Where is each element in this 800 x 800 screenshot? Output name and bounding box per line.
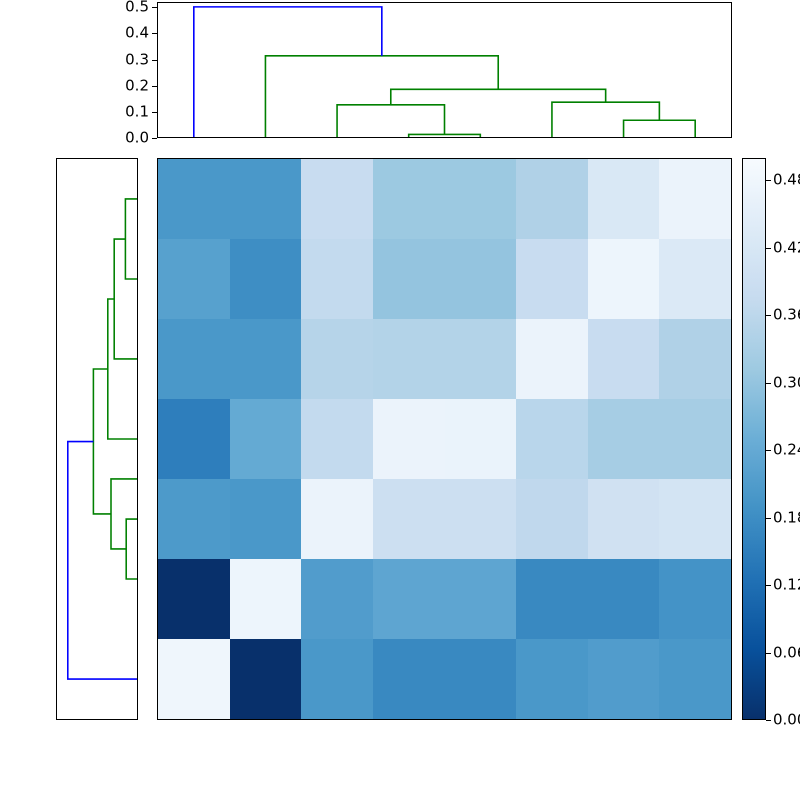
heatmap-cell <box>445 559 517 639</box>
heatmap-cell <box>588 239 660 319</box>
colorbar-gradient <box>743 159 765 719</box>
heatmap-cell <box>373 479 445 559</box>
dendrogram-link <box>194 7 382 137</box>
heatmap-cell <box>230 639 302 719</box>
colorbar-tick-mark <box>766 653 771 654</box>
colorbar-tick-mark <box>766 180 771 181</box>
heatmap-cell <box>373 559 445 639</box>
column-dendrogram-axis: 0.00.10.20.30.40.5 <box>100 2 157 138</box>
heatmap-cell <box>301 399 373 479</box>
colorbar-tick-label: 0.48 <box>773 173 800 188</box>
colorbar-tick-mark <box>766 315 771 316</box>
heatmap-cell <box>659 479 731 559</box>
dendrogram-link <box>108 299 137 439</box>
heatmap-cell <box>230 559 302 639</box>
colorbar-tick-label: 0.24 <box>773 443 800 458</box>
heatmap-cell <box>230 399 302 479</box>
heatmap-cell <box>588 159 660 239</box>
heatmap-cell <box>445 239 517 319</box>
heatmap-cell <box>230 239 302 319</box>
colorbar-tick-mark <box>766 450 771 451</box>
heatmap-cell <box>373 159 445 239</box>
heatmap-cell <box>158 159 230 239</box>
heatmap-cell <box>516 639 588 719</box>
row-dendrogram-panel <box>56 158 138 720</box>
column-axis-tick-label: 0.2 <box>125 78 149 93</box>
colorbar-tick-label: 0.06 <box>773 645 800 660</box>
column-axis-tick-mark <box>152 138 157 139</box>
heatmap-cell <box>659 639 731 719</box>
heatmap-cell <box>445 399 517 479</box>
heatmap-cell <box>588 639 660 719</box>
colorbar-tick-mark <box>766 248 771 249</box>
colorbar-tick-label: 0.42 <box>773 240 800 255</box>
heatmap-cell <box>158 479 230 559</box>
colorbar-tick-mark <box>766 518 771 519</box>
heatmap-cell <box>588 319 660 399</box>
heatmap-cell <box>588 479 660 559</box>
heatmap-cell <box>659 399 731 479</box>
heatmap-cell <box>373 639 445 719</box>
colorbar-tick-mark <box>766 383 771 384</box>
heatmap-cell <box>659 559 731 639</box>
heatmap-cell <box>373 399 445 479</box>
column-axis-tick-label: 0.5 <box>125 0 149 15</box>
dendrogram-link <box>337 105 444 137</box>
column-axis-tick-label: 0.4 <box>125 26 149 41</box>
heatmap-cell <box>230 479 302 559</box>
heatmap-grid <box>158 159 731 719</box>
dendrogram-link <box>265 56 498 137</box>
column-dendrogram-links <box>158 3 731 137</box>
colorbar-tick-label: 0.36 <box>773 308 800 323</box>
heatmap-cell <box>516 239 588 319</box>
heatmap-cell <box>516 399 588 479</box>
dendrogram-link <box>111 479 137 549</box>
dendrogram-link <box>125 199 137 279</box>
heatmap-cell <box>588 399 660 479</box>
heatmap-cell <box>588 559 660 639</box>
heatmap-panel[interactable] <box>157 158 732 720</box>
heatmap-cell <box>158 399 230 479</box>
colorbar-tick-mark <box>766 585 771 586</box>
heatmap-cell <box>445 639 517 719</box>
column-axis-tick-label: 0.1 <box>125 104 149 119</box>
colorbar-tick-label: 0.18 <box>773 510 800 525</box>
heatmap-cell <box>373 319 445 399</box>
heatmap-cell <box>301 239 373 319</box>
colorbar-strip[interactable] <box>742 158 766 720</box>
clustermap-figure: 0.00.10.20.30.40.5 0.000.060.120.180.240… <box>0 0 800 800</box>
dendrogram-link <box>409 134 481 137</box>
heatmap-cell <box>301 319 373 399</box>
colorbar-tick-label: 0.30 <box>773 375 800 390</box>
colorbar-panel: 0.000.060.120.180.240.300.360.420.48 <box>742 158 798 720</box>
heatmap-cell <box>230 159 302 239</box>
heatmap-cell <box>301 159 373 239</box>
heatmap-cell <box>516 559 588 639</box>
heatmap-cell <box>659 239 731 319</box>
heatmap-cell <box>445 159 517 239</box>
heatmap-cell <box>445 479 517 559</box>
heatmap-cell <box>158 559 230 639</box>
heatmap-cell <box>516 159 588 239</box>
heatmap-cell <box>158 239 230 319</box>
colorbar-tick-mark <box>766 720 771 721</box>
heatmap-cell <box>301 639 373 719</box>
heatmap-cell <box>516 479 588 559</box>
column-axis-tick-label: 0.0 <box>125 131 149 146</box>
heatmap-cell <box>301 559 373 639</box>
colorbar-tick-label: 0.12 <box>773 578 800 593</box>
heatmap-cell <box>445 319 517 399</box>
heatmap-cell <box>373 239 445 319</box>
heatmap-cell <box>158 319 230 399</box>
heatmap-cell <box>659 319 731 399</box>
column-dendrogram-panel <box>157 2 732 138</box>
colorbar-tick-label: 0.00 <box>773 713 800 728</box>
dendrogram-link <box>126 519 137 579</box>
heatmap-cell <box>230 319 302 399</box>
heatmap-cell <box>158 639 230 719</box>
row-dendrogram-links <box>57 159 137 719</box>
column-axis-tick-label: 0.3 <box>125 52 149 67</box>
heatmap-cell <box>516 319 588 399</box>
heatmap-cell <box>659 159 731 239</box>
heatmap-cell <box>301 479 373 559</box>
dendrogram-link <box>624 120 696 137</box>
